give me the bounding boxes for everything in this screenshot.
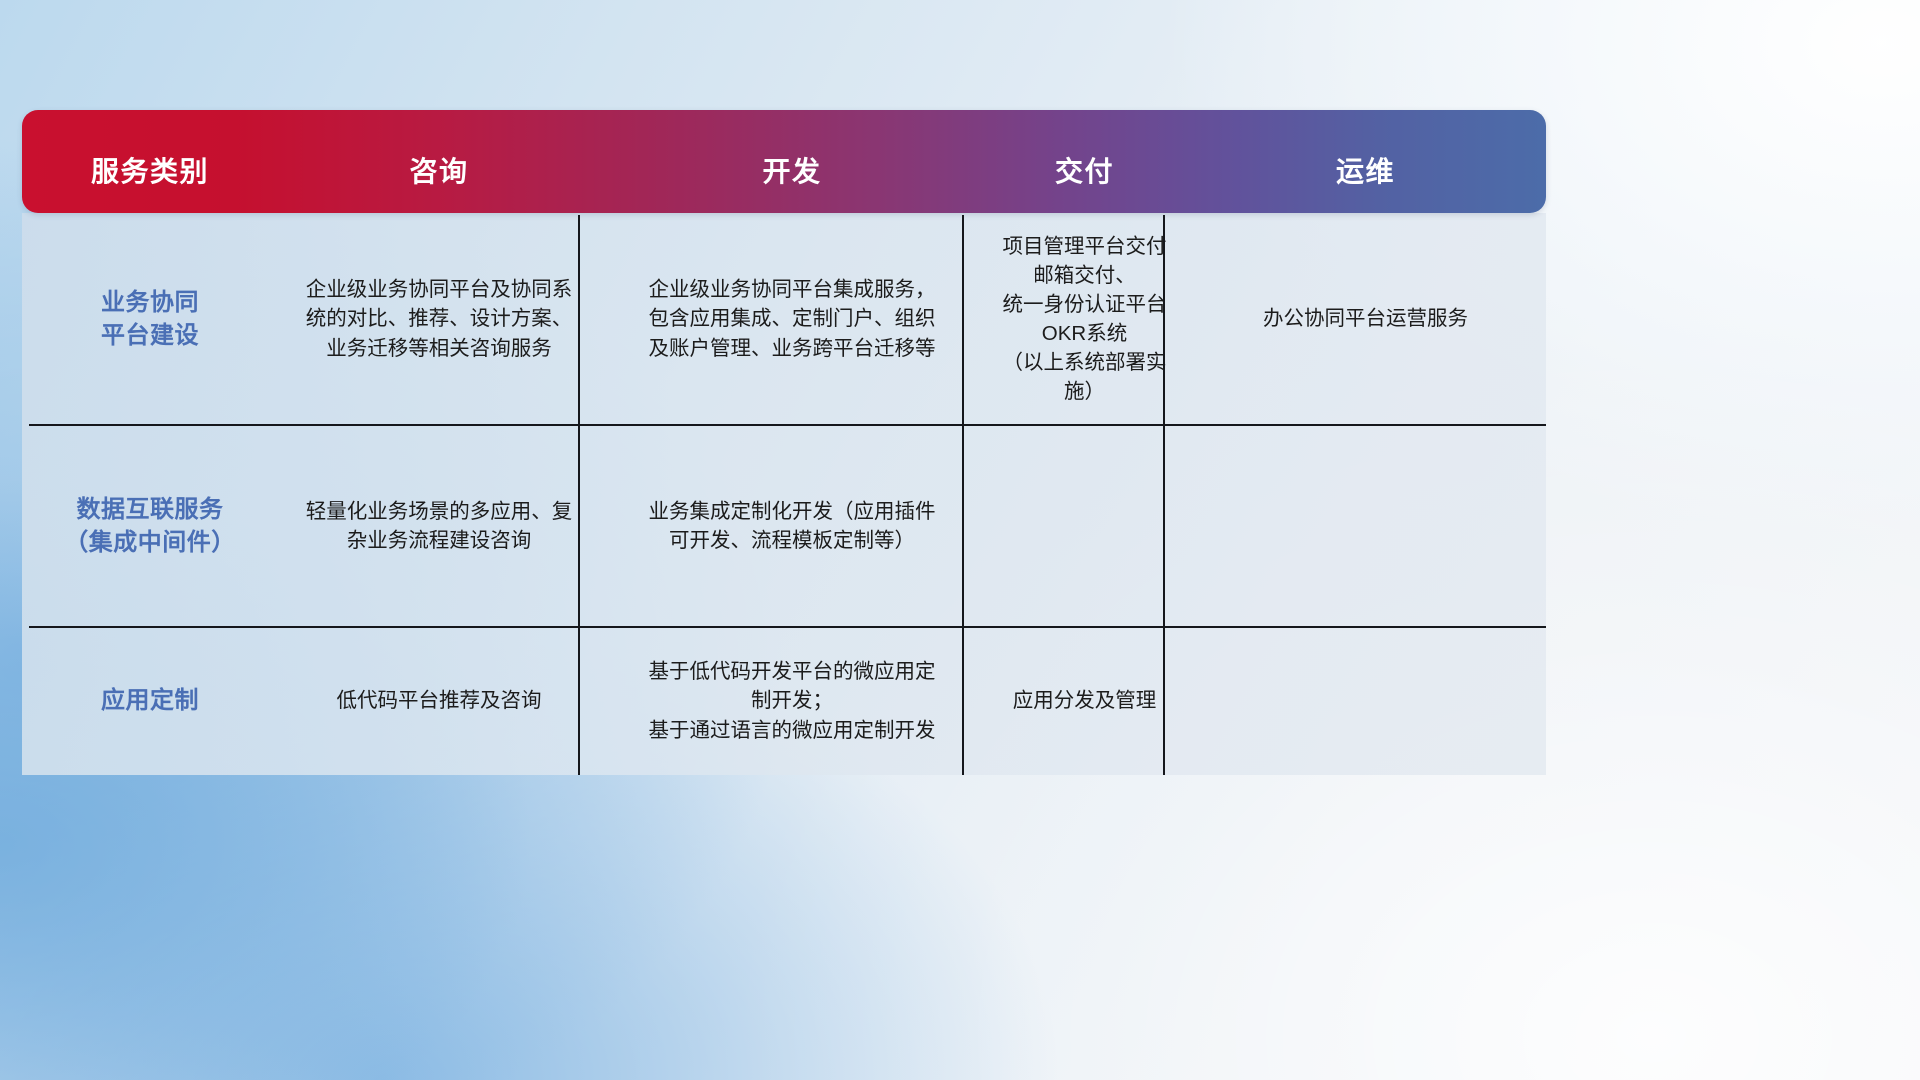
column-divider [578, 215, 580, 775]
row-label: 业务协同 平台建设 [22, 213, 278, 425]
cell-operations [1185, 425, 1546, 627]
table-header-row: 服务类别 咨询 开发 交付 运维 [22, 110, 1546, 213]
header-cell-delivery: 交付 [984, 150, 1185, 213]
cell-development: 企业级业务协同平台集成服务， 包含应用集成、定制门户、组织 及账户管理、业务跨平… [600, 213, 984, 425]
cell-delivery: 项目管理平台交付 邮箱交付、 统一身份认证平台 OKR系统 （以上系统部署实施） [984, 213, 1185, 425]
header-cell-consulting: 咨询 [278, 150, 600, 213]
row-label: 数据互联服务 （集成中间件） [22, 425, 278, 627]
cell-development: 业务集成定制化开发（应用插件 可开发、流程模板定制等） [600, 425, 984, 627]
table-row: 业务协同 平台建设 企业级业务协同平台及协同系 统的对比、推荐、设计方案、 业务… [22, 213, 1546, 425]
row-divider [29, 626, 1546, 628]
service-matrix-table: 服务类别 咨询 开发 交付 运维 业务协同 平台建设 企业级业务协同平台及协同系… [22, 110, 1546, 775]
cell-development: 基于低代码开发平台的微应用定 制开发； 基于通过语言的微应用定制开发 [600, 627, 984, 775]
header-cell-operations: 运维 [1185, 150, 1546, 213]
column-divider [962, 215, 964, 775]
cell-consulting: 轻量化业务场景的多应用、复 杂业务流程建设咨询 [278, 425, 600, 627]
header-cell-service-category: 服务类别 [22, 150, 278, 213]
column-divider [1163, 215, 1165, 775]
cell-operations [1185, 627, 1546, 775]
table-row: 数据互联服务 （集成中间件） 轻量化业务场景的多应用、复 杂业务流程建设咨询 业… [22, 425, 1546, 627]
header-cell-development: 开发 [600, 150, 984, 213]
table-row: 应用定制 低代码平台推荐及咨询 基于低代码开发平台的微应用定 制开发； 基于通过… [22, 627, 1546, 775]
cell-consulting: 低代码平台推荐及咨询 [278, 627, 600, 775]
cell-consulting: 企业级业务协同平台及协同系 统的对比、推荐、设计方案、 业务迁移等相关咨询服务 [278, 213, 600, 425]
cell-delivery [984, 425, 1185, 627]
row-divider [29, 424, 1546, 426]
row-label: 应用定制 [22, 627, 278, 775]
cell-operations: 办公协同平台运营服务 [1185, 213, 1546, 425]
cell-delivery: 应用分发及管理 [984, 627, 1185, 775]
